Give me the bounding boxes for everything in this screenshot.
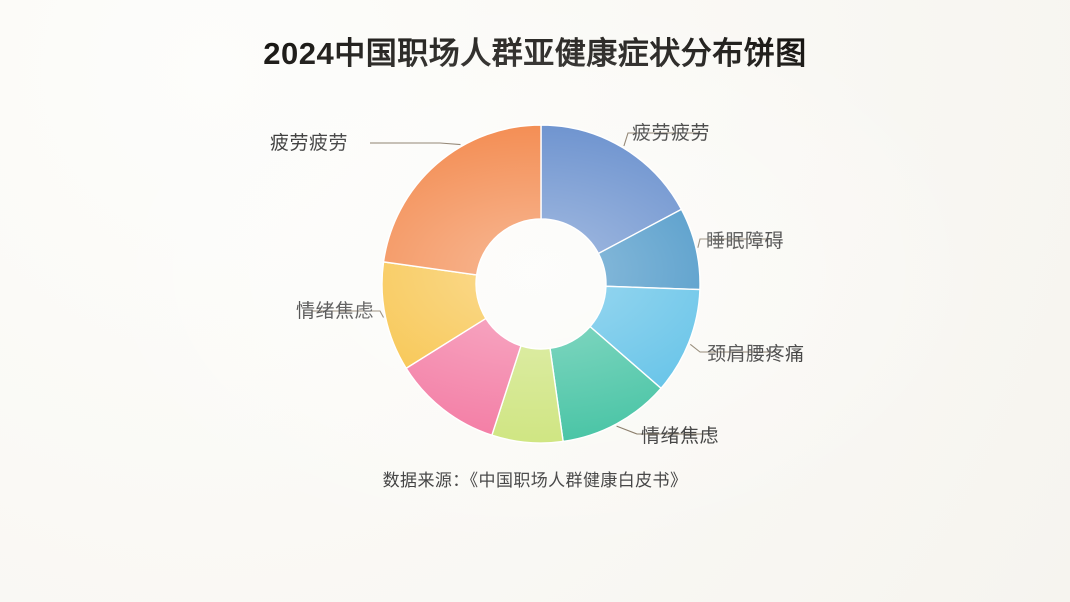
callout-leader-line	[370, 143, 461, 145]
slice-label-fatigue-left: 疲劳疲劳	[270, 128, 348, 155]
donut-chart: 疲劳疲劳 睡眠障碍 颈肩腰疼痛 情绪焦虑 疲劳疲劳 情绪焦虑	[0, 0, 1070, 602]
donut-slice[interactable]	[384, 125, 541, 275]
slice-label-fatigue-right: 疲劳疲劳	[632, 118, 710, 145]
slice-label-anxiety-left: 情绪焦虑	[296, 296, 374, 323]
chart-page: 2024中国职场人群亚健康症状分布饼图 疲劳疲劳 睡眠障碍 颈肩腰疼痛 情绪焦虑…	[0, 0, 1070, 602]
donut-slice-group	[382, 125, 700, 443]
slice-label-neck-shoulder-back-pain: 颈肩腰疼痛	[707, 339, 805, 366]
slice-label-anxiety-right: 情绪焦虑	[641, 421, 719, 448]
slice-label-sleep-disorder: 睡眠障碍	[706, 226, 784, 253]
data-source-note: 数据来源：《中国职场人群健康白皮书》	[0, 466, 1070, 491]
donut-chart-svg	[0, 0, 1070, 602]
